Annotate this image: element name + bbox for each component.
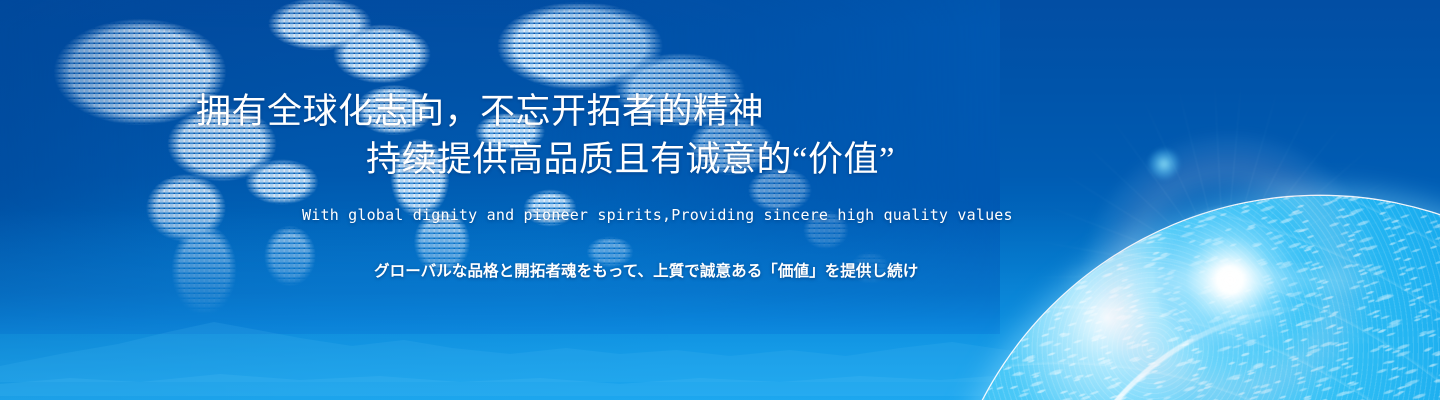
globe-ring-highlights xyxy=(940,196,1440,400)
dotted-world-map xyxy=(0,0,1000,334)
sun-streak xyxy=(1060,268,1390,292)
earth-globe xyxy=(940,196,1440,400)
sun-rays xyxy=(1000,50,1440,400)
dot-grid xyxy=(0,0,1000,334)
left-vignette xyxy=(0,0,1440,400)
globe-limb-highlight xyxy=(938,194,1440,400)
hero-banner: 拥有全球化志向，不忘开拓者的精神 持续提供高品质且有诚意的“价值” With g… xyxy=(0,0,1440,400)
dot-map-fade-v xyxy=(0,0,1000,334)
banner-copy: 拥有全球化志向，不忘开拓者的精神 持续提供高品质且有诚意的“价值” With g… xyxy=(0,0,1010,400)
globe-surface-speckle xyxy=(940,196,1440,400)
globe-region xyxy=(880,0,1440,400)
dot-map-fade-h xyxy=(0,0,1000,334)
headline-line-1: 拥有全球化志向，不忘开拓者的精神 xyxy=(196,92,764,131)
globe-surface-texture xyxy=(880,97,1440,400)
mountain-silhouette-near xyxy=(0,348,1440,396)
globe-terminator xyxy=(940,196,1440,400)
subtitle-english: With global dignity and pioneer spirits,… xyxy=(302,206,1013,224)
headline: 拥有全球化志向，不忘开拓者的精神 持续提供高品质且有诚意的“价值” xyxy=(196,88,895,184)
sun-halo xyxy=(1085,135,1375,400)
lens-flare-dot xyxy=(1148,148,1180,180)
bottom-glow xyxy=(0,210,1440,400)
mountain-silhouette-far xyxy=(0,292,1440,382)
sun-flare xyxy=(1155,205,1305,355)
subtitle-japanese: グローバルな品格と開拓者魂をもって、上質で誠意ある「価値」を提供し続け xyxy=(374,259,918,281)
headline-line-2: 持续提供高品质且有诚意的“价值” xyxy=(196,136,895,184)
